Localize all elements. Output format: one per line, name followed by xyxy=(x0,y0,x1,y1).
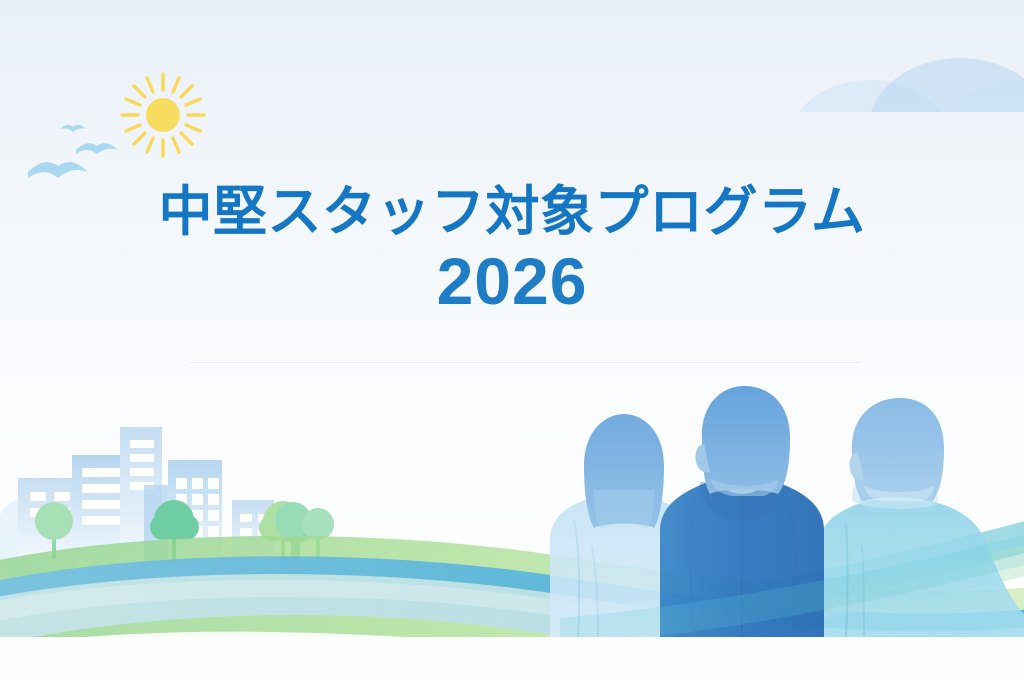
poster-title-block: 中堅スタッフ対象プログラム 2026 xyxy=(0,182,1024,314)
sun-icon xyxy=(122,74,204,156)
poster-illustration xyxy=(0,0,1024,683)
bottom-band xyxy=(0,637,1024,683)
page-title-year: 2026 xyxy=(0,248,1024,314)
page-title: 中堅スタッフ対象プログラム xyxy=(0,182,1024,242)
poster-canvas: 中堅スタッフ対象プログラム 2026 xyxy=(0,0,1024,683)
title-divider xyxy=(190,362,860,363)
